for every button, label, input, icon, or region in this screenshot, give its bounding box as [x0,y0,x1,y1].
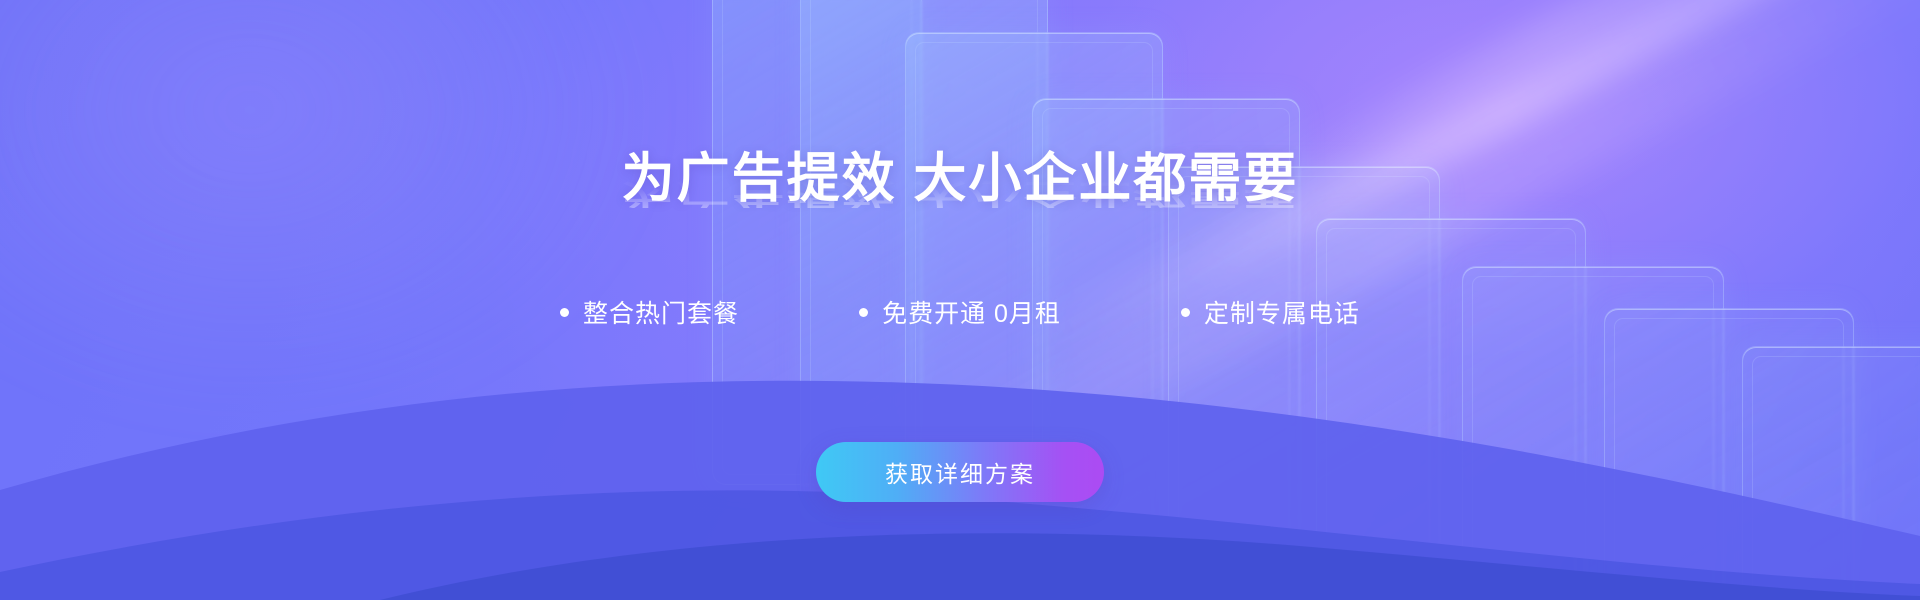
get-detailed-plan-button[interactable]: 获取详细方案 [816,442,1104,502]
bullet-label: 定制专属电话 [1204,294,1360,330]
bullet-label: 免费开通 0月租 [882,294,1061,330]
bullet-dot-icon [859,308,868,317]
banner-content: 为广告提效 大小企业都需要 为广告提效 大小企业都需要 整合热门套餐 免费开通 … [0,0,1920,600]
headline-block: 为广告提效 大小企业都需要 为广告提效 大小企业都需要 [0,152,1920,262]
cta-container: 获取详细方案 [0,442,1920,502]
bullet-dot-icon [1181,308,1190,317]
feature-bullet-list: 整合热门套餐 免费开通 0月租 定制专属电话 [0,294,1920,330]
bullet-label: 整合热门套餐 [583,294,739,330]
list-item: 定制专属电话 [1181,294,1360,330]
page-title-reflection: 为广告提效 大小企业都需要 [0,178,1920,208]
list-item: 免费开通 0月租 [859,294,1061,330]
bullet-dot-icon [560,308,569,317]
list-item: 整合热门套餐 [560,294,739,330]
hero-banner: 为广告提效 大小企业都需要 为广告提效 大小企业都需要 整合热门套餐 免费开通 … [0,0,1920,600]
